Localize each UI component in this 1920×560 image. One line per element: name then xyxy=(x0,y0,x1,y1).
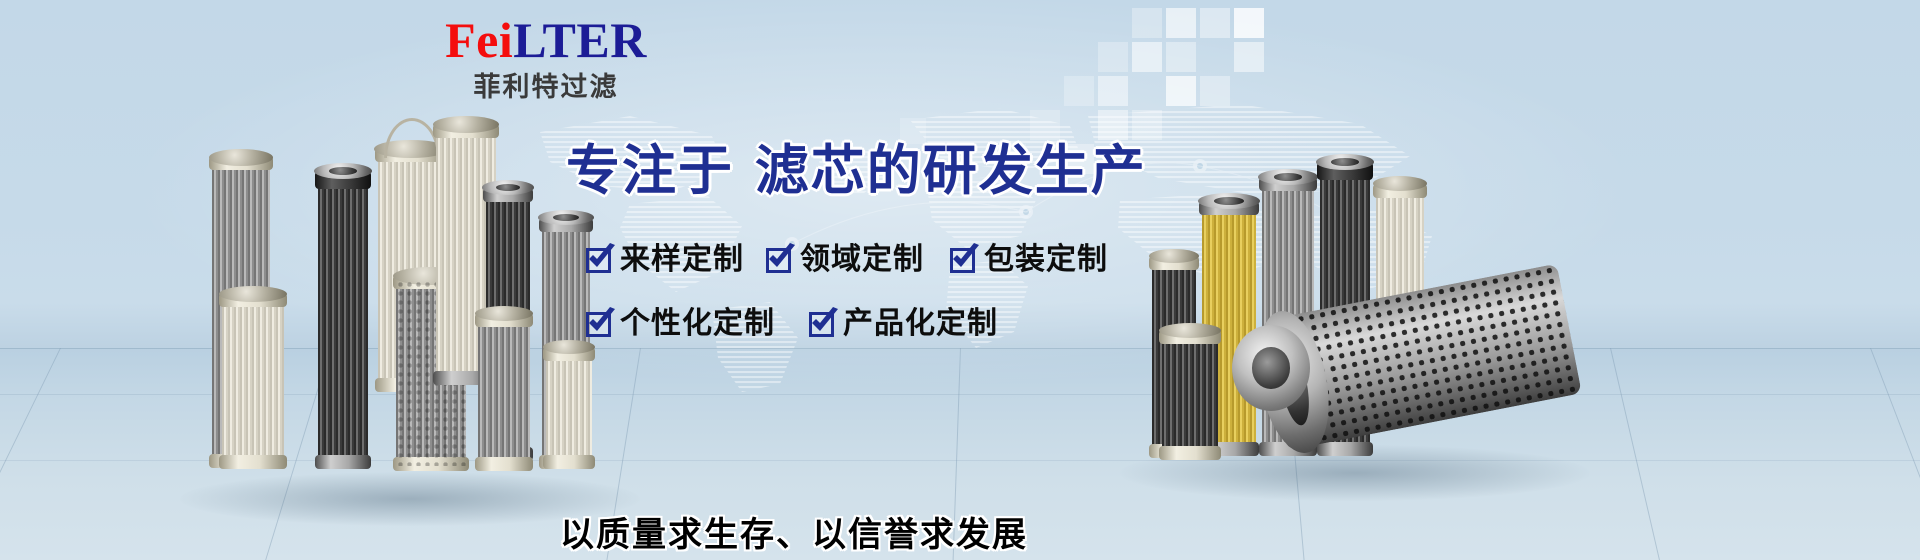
feature-label: 领域定制 xyxy=(800,243,924,277)
feature-item[interactable]: 领域定制 xyxy=(766,243,924,277)
feature-label: 个性化定制 xyxy=(620,307,775,341)
filter-end-cap xyxy=(1232,325,1310,411)
brand-logo[interactable]: FeiLTER 菲利特过滤 xyxy=(396,12,696,104)
floor-line xyxy=(1610,348,1660,560)
feature-item[interactable]: 包装定制 xyxy=(950,243,1108,277)
floor-line xyxy=(1870,348,1920,560)
checkbox-checked-icon xyxy=(950,248,975,273)
checkbox-checked-icon xyxy=(586,312,611,337)
floor-line xyxy=(0,348,61,560)
feature-list: 来样定制 领域定制 包装定制 个性化定制 xyxy=(586,243,1206,371)
feature-item[interactable]: 产品化定制 xyxy=(809,307,998,341)
promo-banner: FeiLTER 菲利特过滤 专注于 滤芯的研发生产 来样定制 领域定制 xyxy=(0,0,1920,560)
brand-name-cn: 菲利特过滤 xyxy=(396,72,696,104)
feature-item[interactable]: 来样定制 xyxy=(586,243,744,277)
feature-label: 产品化定制 xyxy=(843,307,998,341)
feature-item[interactable]: 个性化定制 xyxy=(586,307,775,341)
feature-label: 来样定制 xyxy=(620,243,744,277)
brand-wordmark: FeiLTER xyxy=(396,12,696,68)
filter-cartridge xyxy=(478,318,530,466)
cartridge-handle xyxy=(384,118,440,158)
filter-cartridge xyxy=(318,178,368,464)
checkbox-checked-icon xyxy=(809,312,834,337)
brand-wordmark-red: Fei xyxy=(445,12,513,68)
brand-wordmark-blue: LTER xyxy=(513,12,647,68)
headline: 专注于 滤芯的研发生产 xyxy=(566,140,1147,202)
tagline: 以质量求生存、以信誉求发展 xyxy=(560,515,1028,555)
feature-row: 来样定制 领域定制 包装定制 xyxy=(586,243,1206,277)
filter-cartridge xyxy=(222,298,284,464)
checkbox-checked-icon xyxy=(586,248,611,273)
feature-label: 包装定制 xyxy=(984,243,1108,277)
checkbox-checked-icon xyxy=(766,248,791,273)
feature-row: 个性化定制 产品化定制 xyxy=(586,307,1206,341)
product-group-left xyxy=(190,120,610,510)
